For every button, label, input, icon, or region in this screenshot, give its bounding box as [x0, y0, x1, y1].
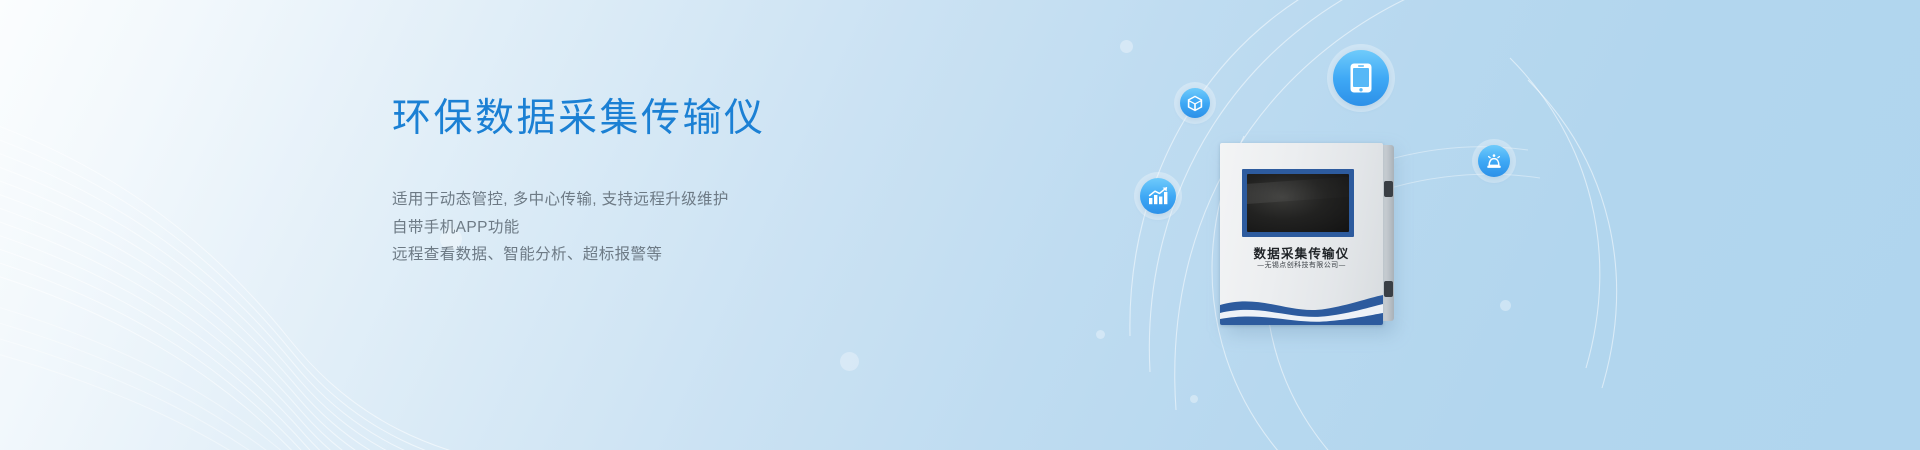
device-body: 数据采集传输仪 —无锡点创科技有限公司— [1220, 143, 1383, 325]
product-device-image: 数据采集传输仪 —无锡点创科技有限公司— [1220, 143, 1395, 333]
decorative-bubble [1190, 395, 1198, 403]
decorative-bubble [1500, 300, 1511, 311]
hero-text-block: 环保数据采集传输仪 适用于动态管控, 多中心传输, 支持远程升级维护 自带手机A… [392, 96, 952, 269]
decorative-bubble [1096, 330, 1105, 339]
smartphone-icon-glyph [1349, 62, 1373, 94]
device-screen [1247, 174, 1349, 232]
device-hinge [1384, 181, 1393, 197]
device-bottom-wave [1220, 289, 1383, 325]
bar-chart-icon [1140, 178, 1176, 214]
feature-item: 远程查看数据、智能分析、超标报警等 [392, 241, 952, 269]
decorative-bubble [1120, 40, 1133, 53]
background-decoration [0, 0, 1920, 450]
decorative-bubble [840, 352, 859, 371]
feature-list: 适用于动态管控, 多中心传输, 支持远程升级维护 自带手机APP功能 远程查看数… [392, 186, 952, 269]
cube-icon-glyph [1187, 95, 1203, 112]
device-hinge [1384, 281, 1393, 297]
cube-icon [1180, 88, 1210, 118]
alarm-siren-icon [1478, 145, 1510, 177]
feature-item: 适用于动态管控, 多中心传输, 支持远程升级维护 [392, 186, 952, 214]
feature-item: 自带手机APP功能 [392, 214, 952, 242]
smartphone-icon [1333, 50, 1389, 106]
bar-chart-icon-glyph [1148, 187, 1168, 205]
page-title: 环保数据采集传输仪 [392, 96, 952, 142]
device-screen-bezel [1242, 169, 1354, 237]
product-hero-banner: 环保数据采集传输仪 适用于动态管控, 多中心传输, 支持远程升级维护 自带手机A… [0, 0, 1920, 450]
alarm-siren-icon-glyph [1485, 152, 1503, 170]
device-company-label: —无锡点创科技有限公司— [1220, 260, 1383, 270]
